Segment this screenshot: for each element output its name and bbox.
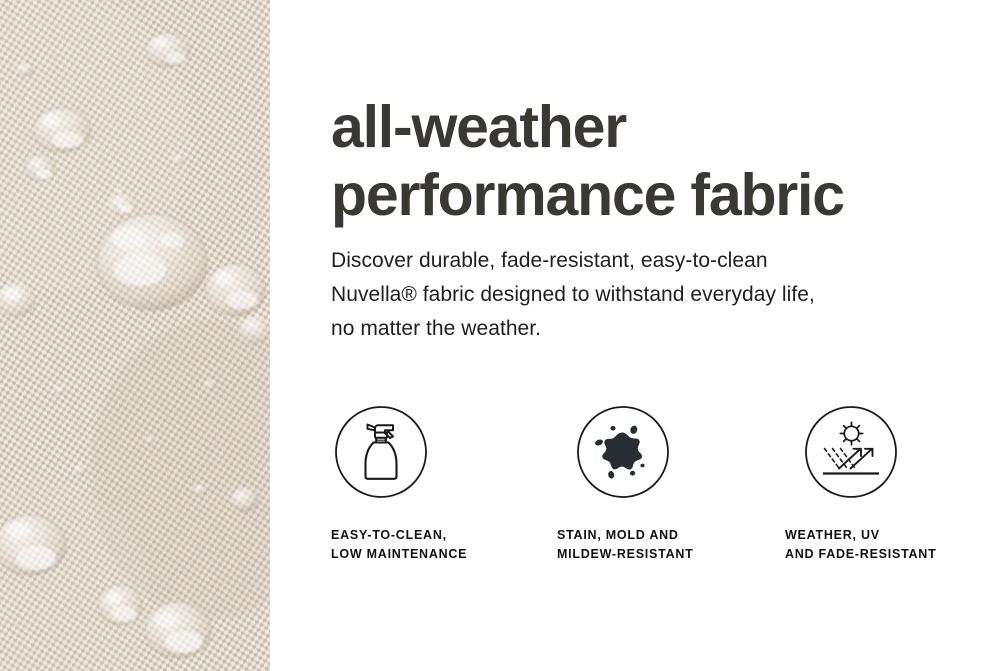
- stain-splat-icon: [575, 404, 671, 500]
- feature-label-weather-resistant: WEATHER, UV AND FADE-RESISTANT: [785, 526, 936, 564]
- page-title: all-weather performance fabric: [331, 93, 991, 229]
- feature-label-easy-to-clean: EASY-TO-CLEAN, LOW MAINTENANCE: [331, 526, 467, 564]
- promo-banner: all-weather performance fabric Discover …: [0, 0, 1005, 671]
- feature-item-easy-to-clean: EASY-TO-CLEAN, LOW MAINTENANCE: [331, 404, 467, 564]
- description-text: Discover durable, fade-resistant, easy-t…: [331, 244, 951, 346]
- sun-uv-reflect-icon: [803, 404, 899, 500]
- feature-item-stain-resistant: STAIN, MOLD AND MILDEW-RESISTANT: [557, 404, 694, 564]
- fabric-texture-illustration: [0, 0, 270, 671]
- spray-bottle-icon: [333, 404, 429, 500]
- content-column: all-weather performance fabric Discover …: [331, 0, 991, 671]
- fabric-hero-image: [0, 0, 270, 671]
- feature-label-stain-resistant: STAIN, MOLD AND MILDEW-RESISTANT: [557, 526, 694, 564]
- feature-item-weather-resistant: WEATHER, UV AND FADE-RESISTANT: [785, 404, 936, 564]
